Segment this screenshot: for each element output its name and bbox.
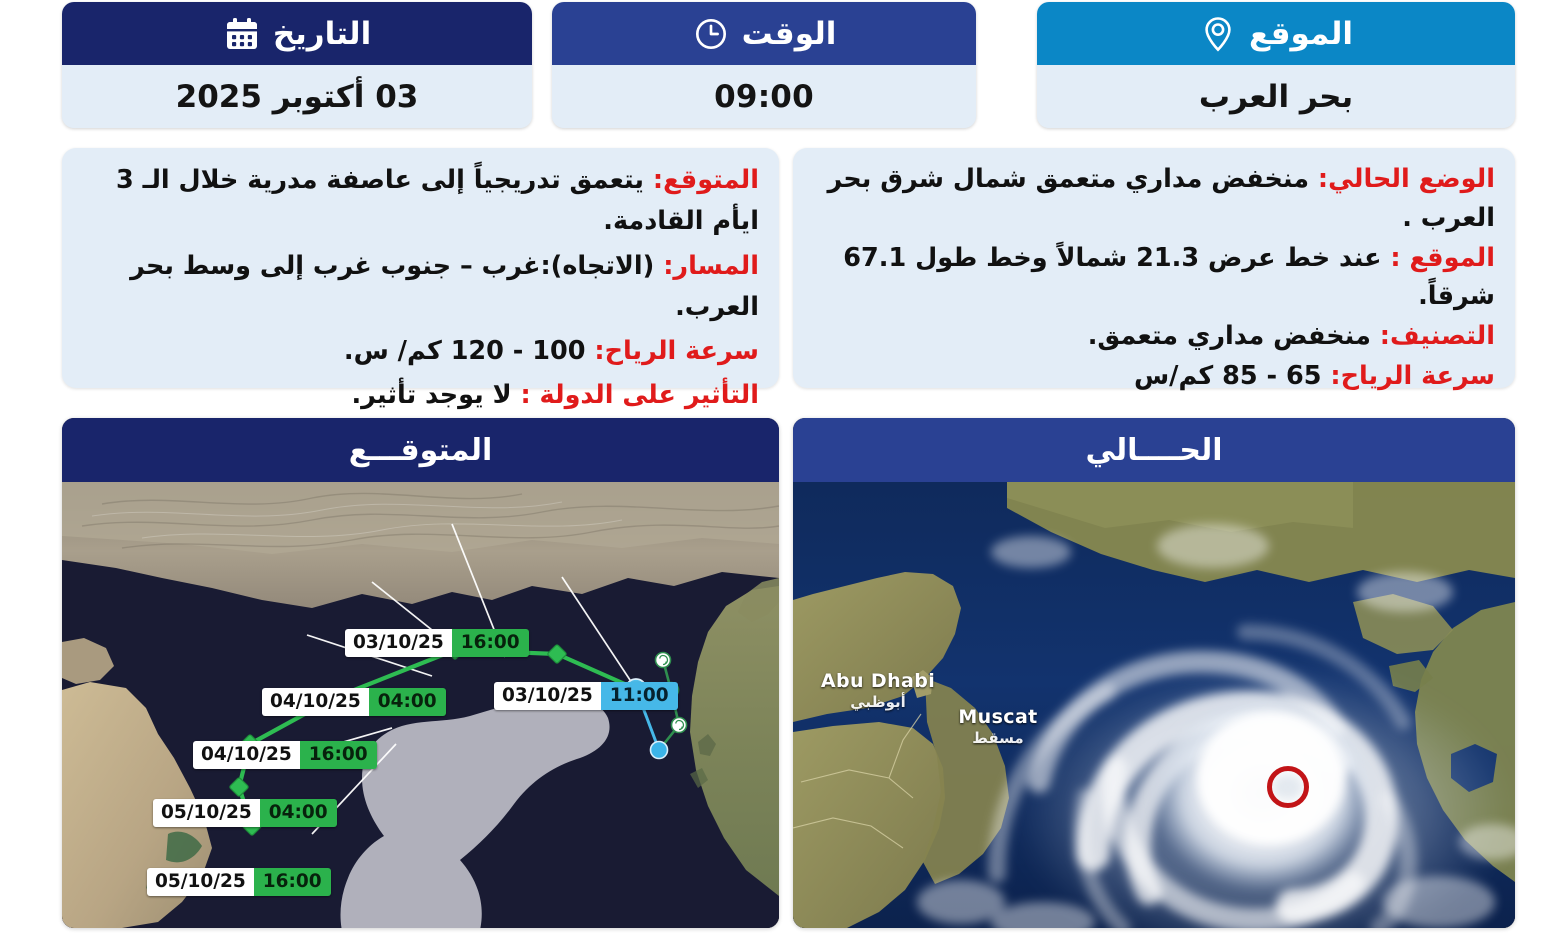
forecast-line-expected: المتوقع: يتعمق تدريجياً إلى عاصفة مدرية … xyxy=(82,160,759,243)
track-label: 03/10/25 11:00 xyxy=(494,682,678,710)
forecast-windspeed-label: سرعة الرياح: xyxy=(594,336,759,366)
forecast-line-impact: التأثير على الدولة : لا يوجد تأثير. xyxy=(82,375,759,416)
cyclone-eye-marker xyxy=(1267,766,1309,808)
track-label: 05/10/25 04:00 xyxy=(153,799,337,827)
current-line-position: الموقع : عند خط عرض 21.3 شمالاً وخط طول … xyxy=(813,239,1495,317)
track-label-date: 03/10/25 xyxy=(345,629,452,657)
track-label-date: 04/10/25 xyxy=(193,741,300,769)
track-label-time: 04:00 xyxy=(260,799,337,827)
current-status-panel: الوضع الحالي: منخفض مداري متعمق شمال شرق… xyxy=(793,148,1515,388)
track-label: 04/10/25 16:00 xyxy=(193,741,377,769)
current-position-dot-b xyxy=(651,742,668,759)
calendar-icon xyxy=(223,15,261,53)
current-classification-label: التصنيف: xyxy=(1380,321,1495,351)
city-label-muscat-ar: مسقط xyxy=(943,729,1053,747)
city-label-muscat-en: Muscat xyxy=(943,706,1053,728)
forecast-map-panel: المتوقـــع xyxy=(62,418,779,928)
date-card-header: التاريخ xyxy=(62,2,532,65)
time-card-value: 09:00 xyxy=(552,65,976,128)
track-label: 05/10/25 16:00 xyxy=(147,868,331,896)
clock-icon xyxy=(692,15,730,53)
current-map-title: الحــــالي xyxy=(793,418,1515,482)
city-label-abu-dhabi-en: Abu Dhabi xyxy=(813,670,943,692)
forecast-line-track: المسار: (الاتجاه):غرب – جنوب غرب إلى وسط… xyxy=(82,246,759,329)
city-label-abu-dhabi-ar: أبوظبي xyxy=(813,693,943,711)
current-windspeed-label: سرعة الرياح: xyxy=(1330,361,1495,391)
track-label-time: 16:00 xyxy=(254,868,331,896)
track-label-time: 04:00 xyxy=(369,688,446,716)
location-card-value: بحر العرب xyxy=(1037,65,1515,128)
location-card-title: الموقع xyxy=(1249,16,1353,52)
city-label-muscat: Muscat مسقط xyxy=(943,706,1053,747)
location-card-header: الموقع xyxy=(1037,2,1515,65)
forecast-expected-label: المتوقع: xyxy=(653,165,759,195)
forecast-status-panel: المتوقع: يتعمق تدريجياً إلى عاصفة مدرية … xyxy=(62,148,779,388)
current-line-status: الوضع الحالي: منخفض مداري متعمق شمال شرق… xyxy=(813,160,1495,238)
current-status-label: الوضع الحالي: xyxy=(1318,164,1495,194)
forecast-windspeed-text: 100 - 120 كم/ س. xyxy=(344,336,594,366)
track-label-time: 11:00 xyxy=(601,682,678,710)
city-label-abu-dhabi: Abu Dhabi أبوظبي xyxy=(813,670,943,711)
track-label: 03/10/25 16:00 xyxy=(345,629,529,657)
track-label-date: 03/10/25 xyxy=(494,682,601,710)
forecast-impact-text: لا يوجد تأثير. xyxy=(351,380,520,410)
current-line-classification: التصنيف: منخفض مداري متعمق. xyxy=(813,317,1495,356)
current-windspeed-text: 65 - 85 كم/س xyxy=(1134,361,1330,391)
track-label-time: 16:00 xyxy=(300,741,377,769)
forecast-map-canvas[interactable]: 03/10/25 16:00 03/10/25 11:00 04/10/25 0… xyxy=(62,482,779,928)
date-card-value: 03 أكتوبر 2025 xyxy=(62,65,532,128)
time-card-header: الوقت xyxy=(552,2,976,65)
forecast-impact-label: التأثير على الدولة : xyxy=(520,380,759,410)
track-label: 04/10/25 04:00 xyxy=(262,688,446,716)
current-classification-text: منخفض مداري متعمق. xyxy=(1088,321,1380,351)
date-card: التاريخ xyxy=(62,2,532,128)
current-position-label: الموقع : xyxy=(1390,243,1495,273)
track-label-date: 05/10/25 xyxy=(147,868,254,896)
current-map-image: Abu Dhabi أبوظبي Muscat مسقط xyxy=(793,482,1515,928)
forecast-track-label: المسار: xyxy=(663,251,759,281)
current-map-panel: الحــــالي xyxy=(793,418,1515,928)
forecast-map-image: 03/10/25 16:00 03/10/25 11:00 04/10/25 0… xyxy=(62,482,779,928)
current-line-windspeed: سرعة الرياح: 65 - 85 كم/س xyxy=(813,357,1495,396)
time-card: الوقت 09:00 xyxy=(552,2,976,128)
track-label-time: 16:00 xyxy=(452,629,529,657)
track-label-date: 04/10/25 xyxy=(262,688,369,716)
forecast-map-title: المتوقـــع xyxy=(62,418,779,482)
track-label-date: 05/10/25 xyxy=(153,799,260,827)
time-card-title: الوقت xyxy=(742,16,837,52)
location-card: الموقع بحر العرب xyxy=(1037,2,1515,128)
forecast-line-windspeed: سرعة الرياح: 100 - 120 كم/ س. xyxy=(82,331,759,372)
location-pin-icon xyxy=(1199,15,1237,53)
date-card-title: التاريخ xyxy=(273,16,371,52)
current-map-canvas[interactable]: Abu Dhabi أبوظبي Muscat مسقط xyxy=(793,482,1515,928)
bulletin-root: التاريخ xyxy=(0,0,1556,935)
